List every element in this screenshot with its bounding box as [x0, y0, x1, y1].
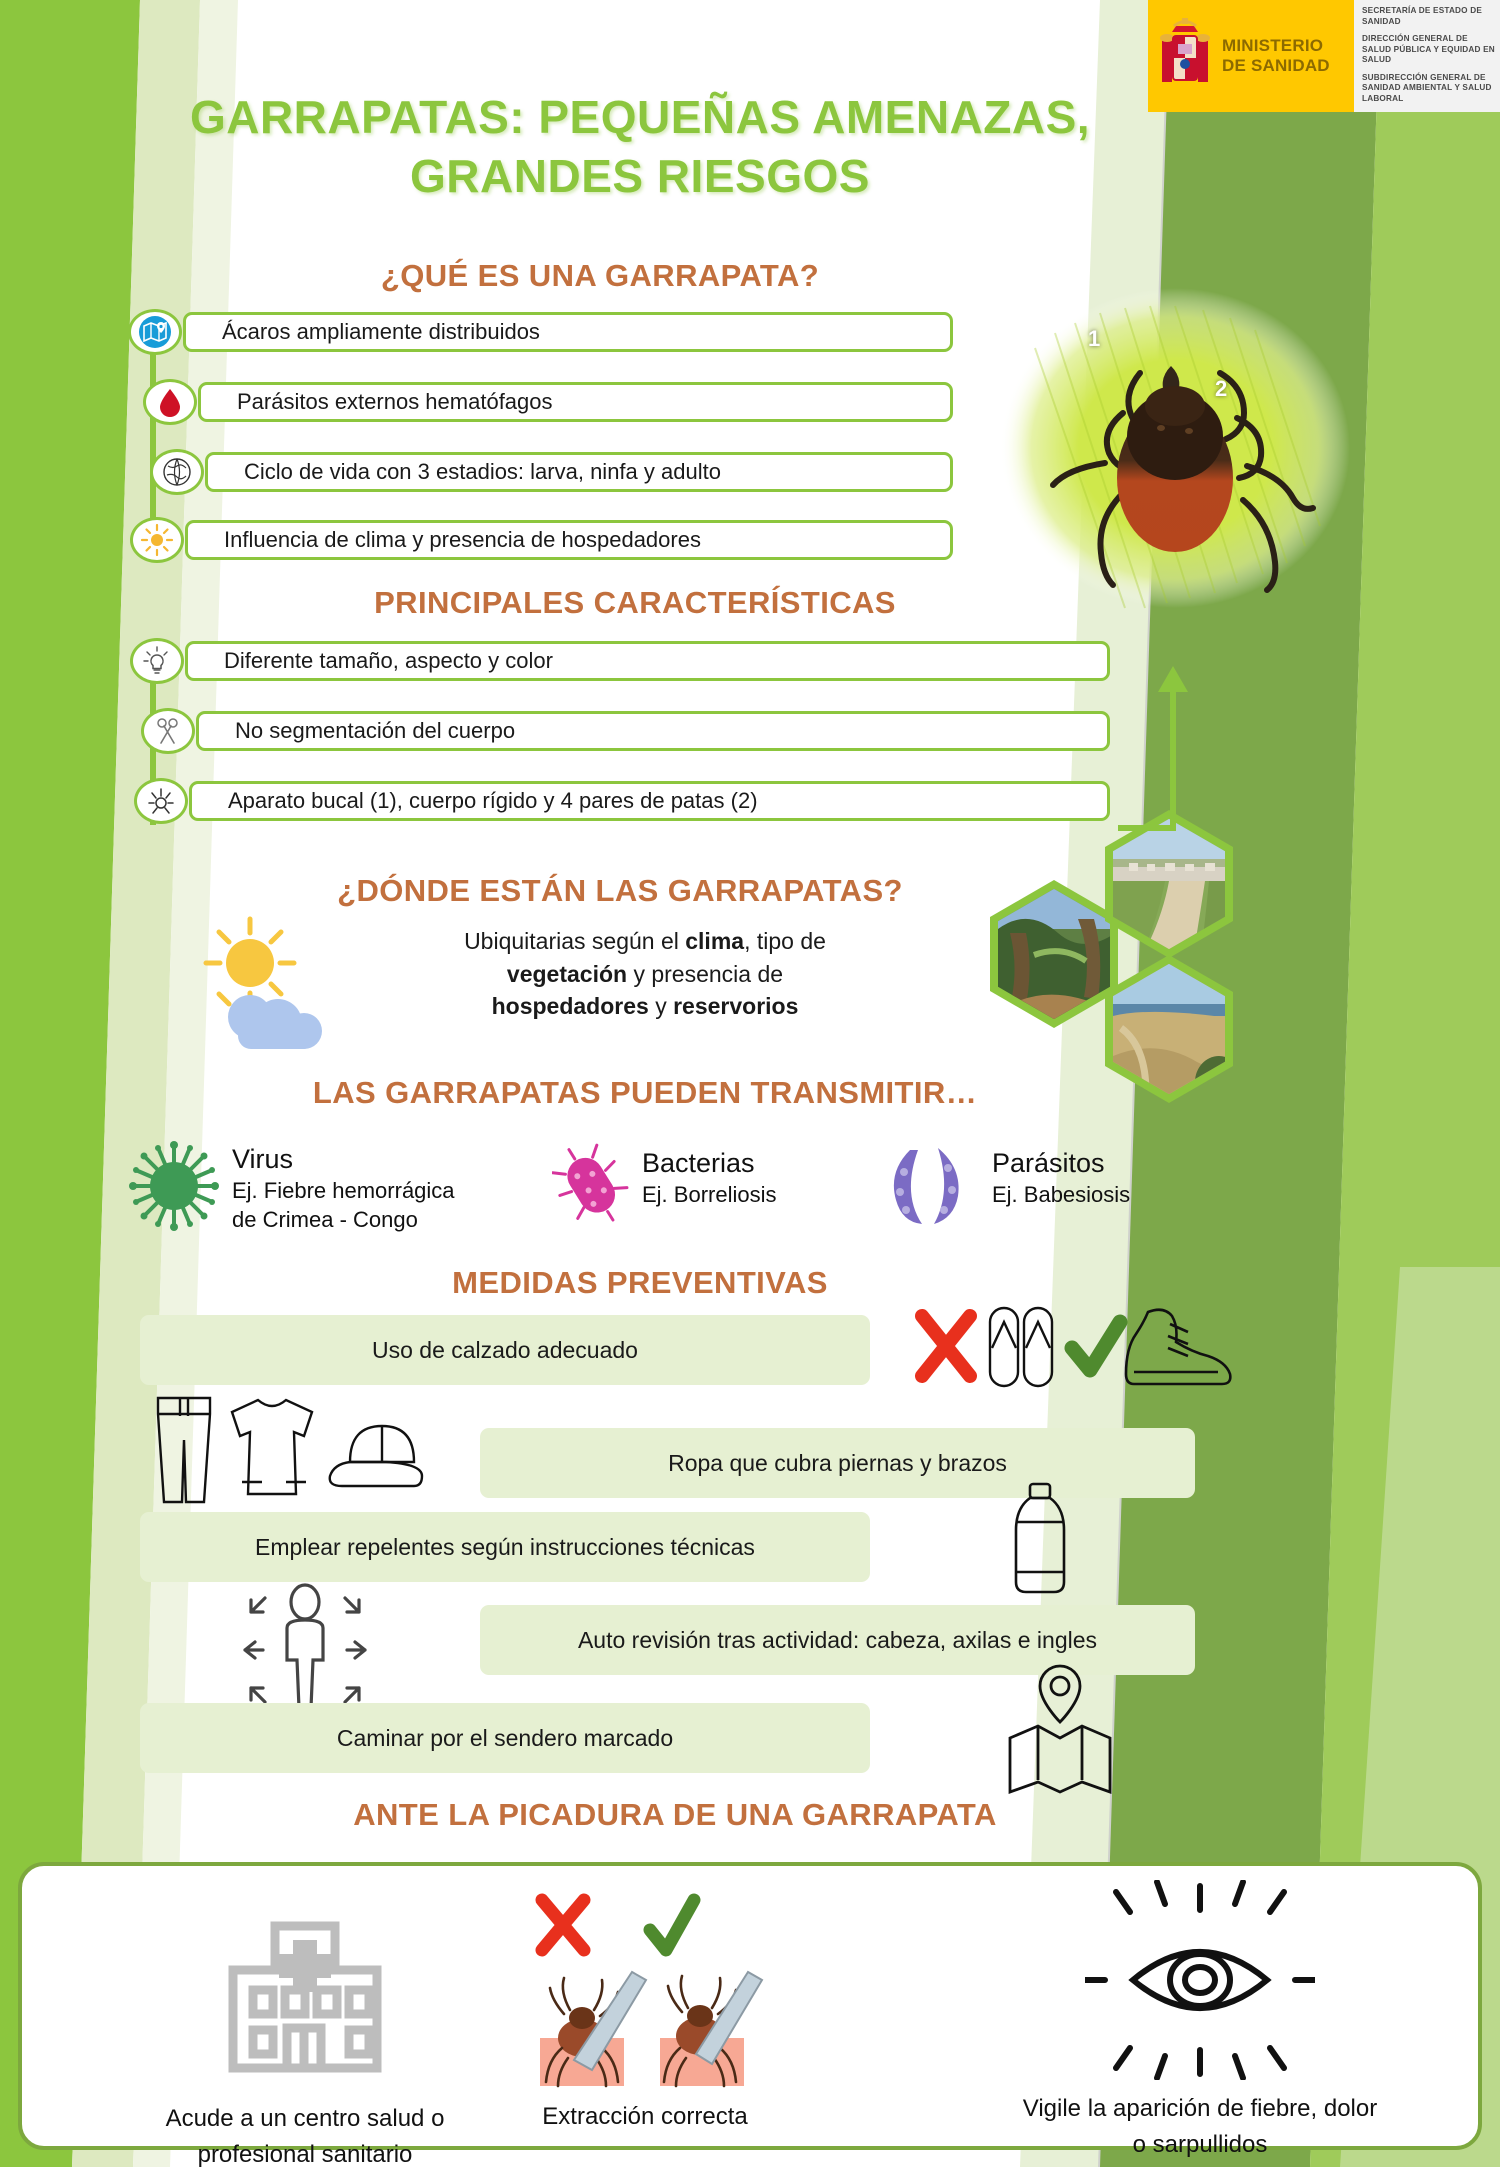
bite-item-symptoms: Vigile la aparición de fiebre, dolor o s…	[930, 1880, 1470, 2163]
where-bold3: hospedadores	[492, 993, 649, 1019]
lightbulb-icon	[130, 638, 184, 684]
flip-flops-icon	[990, 1308, 1052, 1386]
tick-extraction-icon	[500, 1888, 790, 2088]
section-title-prevention: MEDIDAS PREVENTIVAS	[300, 1265, 980, 1301]
bacteria-icon	[552, 1140, 630, 1226]
cross-icon	[922, 1316, 970, 1376]
scissors-icon	[141, 708, 195, 754]
tick-photograph: 1 2	[975, 278, 1365, 630]
section-title-features: PRINCIPALES CARACTERÍSTICAS	[240, 585, 1030, 621]
coat-of-arms-icon	[1154, 14, 1216, 98]
logo-yellow-panel: MINISTERIO DE SANIDAD	[1148, 0, 1354, 112]
page-title: GARRAPATAS: PEQUEÑAS AMENAZAS, GRANDES R…	[140, 88, 1140, 206]
ministry-logo: MINISTERIO DE SANIDAD SECRETARÍA DE ESTA…	[1148, 0, 1500, 112]
self-check-person-icon	[235, 1580, 375, 1720]
logo-ministry-text: MINISTERIO DE SANIDAD	[1222, 36, 1330, 75]
pathogen-example-1a: Ej. Borreliosis	[642, 1182, 776, 1209]
bite-caption-1a: Extracción correcta	[440, 2099, 850, 2135]
bite-caption-2b: o sarpullidos	[930, 2127, 1470, 2163]
pathogen-example-0b: de Crimea - Congo	[232, 1207, 455, 1234]
feature-label-1: No segmentación del cuerpo	[199, 718, 515, 744]
cap-icon	[330, 1426, 422, 1486]
where-part2: , tipo de	[744, 928, 826, 954]
check-icon	[650, 1900, 694, 1950]
pants-icon	[158, 1398, 210, 1502]
pathogen-bacteria: Bacterias Ej. Borreliosis	[552, 1140, 776, 1226]
hospital-icon	[205, 1900, 405, 2090]
eye-icon	[1085, 1880, 1315, 2080]
logo-block-1: SECRETARÍA DE ESTADO DE SANIDAD	[1362, 6, 1495, 27]
list-item: Aparato bucal (1), cuerpo rígido y 4 par…	[189, 781, 1110, 821]
wrong-extraction	[540, 1972, 646, 2086]
logo-ministry-line2: DE SANIDAD	[1222, 56, 1330, 76]
list-item: Ácaros ampliamente distribuidos	[183, 312, 953, 352]
list-item: Parásitos externos hematófagos	[198, 382, 953, 422]
prevention-box-1: Ropa que cubra piernas y brazos	[480, 1428, 1195, 1498]
pathogen-title-2: Parásitos	[992, 1148, 1130, 1180]
logo-text-panel: SECRETARÍA DE ESTADO DE SANIDAD DIRECCIÓ…	[1354, 0, 1500, 112]
map-location-icon	[128, 309, 182, 355]
section-title-where: ¿DÓNDE ESTÁN LAS GARRAPATAS?	[230, 873, 1010, 909]
page-title-line2: GRANDES RIESGOS	[140, 147, 1140, 206]
pathogen-parasite: Parásitos Ej. Babesiosis	[880, 1140, 1130, 1226]
coastal-scrub-photo	[1105, 955, 1233, 1103]
virus-icon	[128, 1140, 220, 1232]
what-is-label-1: Parásitos externos hematófagos	[201, 389, 553, 415]
where-description: Ubiquitarias según el clima, tipo de veg…	[330, 925, 960, 1023]
section-title-what-is: ¿QUÉ ES UNA GARRAPATA?	[240, 258, 960, 294]
what-is-label-0: Ácaros ampliamente distribuidos	[186, 319, 540, 345]
page-title-line1: GARRAPATAS: PEQUEÑAS AMENAZAS,	[140, 88, 1140, 147]
forest-river-photo	[990, 880, 1118, 1028]
feature-label-2: Aparato bucal (1), cuerpo rígido y 4 par…	[192, 788, 758, 814]
pathogen-example-0a: Ej. Fiebre hemorrágica	[232, 1178, 455, 1205]
blood-drop-icon	[143, 379, 197, 425]
globe-icon	[150, 449, 204, 495]
where-part3: y presencia de	[627, 961, 783, 987]
check-icon	[1072, 1322, 1120, 1370]
map-pin-icon	[1000, 1660, 1120, 1800]
logo-block-2: DIRECCIÓN GENERAL DE SALUD PÚBLICA Y EQU…	[1362, 34, 1495, 66]
bite-caption-2a: Vigile la aparición de fiebre, dolor	[930, 2091, 1470, 2127]
feature-label-0: Diferente tamaño, aspecto y color	[188, 648, 553, 674]
clothing-icons	[140, 1390, 460, 1510]
correct-extraction	[660, 1972, 762, 2086]
cross-icon	[542, 1900, 584, 1950]
where-part1: Ubiquitarias según el	[464, 928, 685, 954]
footwear-icons	[912, 1298, 1242, 1398]
where-bold4: reservorios	[673, 993, 798, 1019]
list-item: Diferente tamaño, aspecto y color	[185, 641, 1110, 681]
section-title-transmit: LAS GARRAPATAS PUEDEN TRANSMITIR…	[230, 1075, 1060, 1111]
pathogen-example-2a: Ej. Babesiosis	[992, 1182, 1130, 1209]
tick-label-1: 1	[1088, 326, 1100, 352]
prevention-box-2: Emplear repelentes según instrucciones t…	[140, 1512, 870, 1582]
sweater-icon	[232, 1400, 312, 1494]
logo-ministry-line1: MINISTERIO	[1222, 36, 1330, 56]
tick-label-2: 2	[1215, 376, 1227, 402]
pathogen-virus: Virus Ej. Fiebre hemorrágica de Crimea -…	[128, 1140, 455, 1234]
pathogen-title-1: Bacterias	[642, 1148, 776, 1180]
repellent-bottle-icon	[1000, 1480, 1080, 1595]
where-bold2: vegetación	[507, 961, 627, 987]
logo-block-3: SUBDIRECCIÓN GENERAL DE SANIDAD AMBIENTA…	[1362, 73, 1495, 105]
prevention-box-4: Caminar por el sendero marcado	[140, 1703, 870, 1773]
list-item: No segmentación del cuerpo	[196, 711, 1110, 751]
what-is-label-2: Ciclo de vida con 3 estadios: larva, nin…	[208, 459, 721, 485]
list-item: Ciclo de vida con 3 estadios: larva, nin…	[205, 452, 953, 492]
pathogen-title-0: Virus	[232, 1144, 455, 1176]
section-title-bite: ANTE LA PICADURA DE UNA GARRAPATA	[270, 1797, 1080, 1833]
list-item: Influencia de clima y presencia de hospe…	[185, 520, 953, 560]
where-part4: y	[649, 993, 673, 1019]
hiking-boot-icon	[1126, 1310, 1230, 1384]
what-is-label-3: Influencia de clima y presencia de hospe…	[188, 527, 701, 553]
prevention-box-0: Uso de calzado adecuado	[140, 1315, 870, 1385]
bite-caption-0b: profesional sanitario	[90, 2137, 520, 2173]
parasite-icon	[880, 1140, 980, 1226]
bite-item-extraction: Extracción correcta	[440, 1888, 850, 2135]
mouthpart-icon	[134, 778, 188, 824]
where-bold1: clima	[685, 928, 744, 954]
sun-icon	[130, 517, 184, 563]
features-to-photo-arrow	[1118, 660, 1228, 835]
